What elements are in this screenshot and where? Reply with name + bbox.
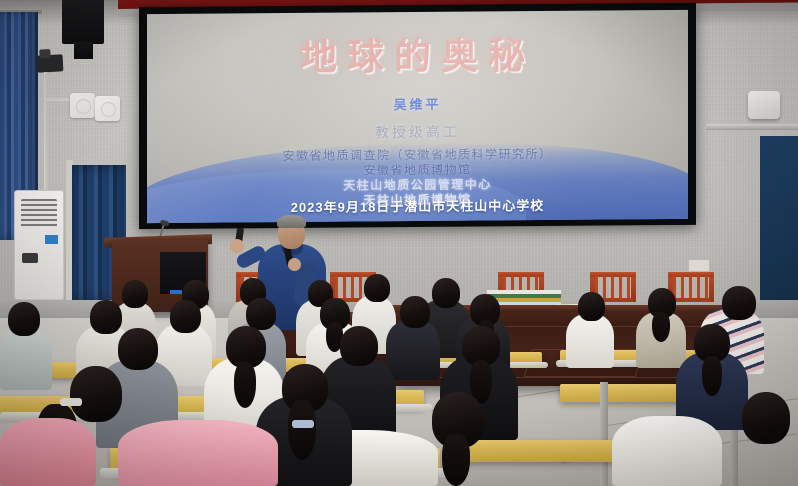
hair-tie-icon bbox=[60, 398, 82, 406]
student-head bbox=[8, 302, 40, 336]
student-head bbox=[70, 366, 122, 422]
presenter-hair bbox=[277, 215, 306, 228]
slide-presenter-rank: 教授级高工 bbox=[147, 120, 688, 144]
student-head bbox=[170, 300, 201, 333]
student-head bbox=[340, 326, 378, 366]
lectern-led-indicator bbox=[170, 290, 182, 294]
student-head bbox=[122, 280, 148, 308]
student-head bbox=[722, 286, 756, 320]
student-torso bbox=[612, 416, 722, 486]
student-head bbox=[118, 328, 158, 370]
air-conditioner bbox=[14, 190, 64, 300]
student-head bbox=[246, 298, 276, 330]
student-head bbox=[364, 274, 390, 302]
student-torso bbox=[118, 420, 278, 486]
student-head bbox=[578, 292, 605, 321]
wall-ledge bbox=[706, 124, 798, 130]
ac-vents-icon bbox=[21, 199, 57, 229]
ac-badge bbox=[45, 235, 58, 244]
light-switch-icon[interactable] bbox=[95, 96, 120, 121]
student-ponytail bbox=[702, 356, 722, 396]
slide-date-line: 2023年9月18日于潜山市天柱山中心学校 bbox=[147, 194, 688, 217]
slide-content: 地球的奥秘 吴维平 教授级高工 安徽省地质调查院（安徽省地质科学研究所） 安徽省… bbox=[147, 10, 688, 223]
student-torso bbox=[386, 320, 440, 380]
light-switch-icon[interactable] bbox=[70, 93, 95, 118]
student-head bbox=[432, 278, 460, 308]
white-device-box bbox=[748, 91, 780, 119]
projection-screen: 地球的奥秘 吴维平 教授级高工 安徽省地质调查院（安徽省地质科学研究所） 安徽省… bbox=[147, 10, 688, 223]
student-torso bbox=[566, 314, 614, 368]
student-ponytail bbox=[442, 434, 470, 486]
slide-title: 地球的奥秘 bbox=[147, 24, 688, 82]
student-torso bbox=[0, 328, 52, 390]
wall-speaker-icon bbox=[62, 0, 104, 44]
presenter-right-hand bbox=[288, 258, 301, 271]
power-socket-icon bbox=[688, 259, 710, 272]
camera-bracket-icon bbox=[37, 54, 64, 72]
student-ponytail bbox=[288, 400, 316, 460]
projection-screen-frame: 地球的奥秘 吴维平 教授级高工 安徽省地质调查院（安徽省地质科学研究所） 安徽省… bbox=[139, 3, 696, 229]
student-head bbox=[400, 296, 430, 328]
chair-slats bbox=[673, 276, 709, 300]
slide-presenter-name: 吴维平 bbox=[147, 92, 688, 115]
student-head bbox=[90, 300, 122, 334]
presenter-left-hand bbox=[230, 239, 244, 253]
blue-cabinet[interactable] bbox=[760, 136, 798, 304]
student-ponytail bbox=[234, 362, 256, 408]
ac-control-panel[interactable] bbox=[22, 253, 38, 263]
student-head bbox=[742, 392, 790, 444]
hair-tie-icon bbox=[292, 420, 314, 428]
classroom-photo-scene: 地球的奥秘 吴维平 教授级高工 安徽省地质调查院（安徽省地质科学研究所） 安徽省… bbox=[0, 0, 798, 486]
desk-leg bbox=[600, 382, 608, 486]
wall-conduit-branch bbox=[46, 98, 72, 101]
wall-conduit bbox=[44, 72, 48, 192]
student-torso bbox=[0, 418, 96, 486]
student-ponytail bbox=[652, 312, 670, 342]
chair-rail bbox=[671, 298, 711, 302]
